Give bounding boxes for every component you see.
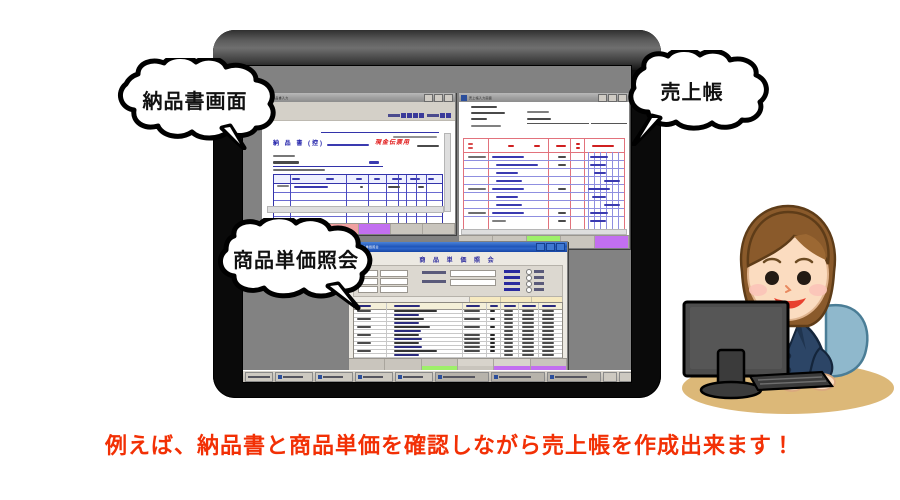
sales-ledger-header xyxy=(465,106,623,136)
table-row[interactable] xyxy=(590,220,606,222)
taskbar-item[interactable] xyxy=(275,372,313,382)
table-row[interactable] xyxy=(522,318,534,320)
bubble-sales-ledger: 売上帳 xyxy=(612,50,772,126)
table-row[interactable] xyxy=(542,326,554,328)
sheet-top-rule xyxy=(321,132,439,133)
col-date xyxy=(468,147,473,149)
table-row[interactable] xyxy=(357,334,371,336)
delivery-note-grid[interactable] xyxy=(273,174,443,224)
table-row[interactable] xyxy=(490,334,495,336)
table-row[interactable] xyxy=(468,188,486,190)
table-row[interactable] xyxy=(490,338,495,340)
table-row[interactable] xyxy=(277,185,289,187)
col-note xyxy=(428,178,434,180)
search-type-label xyxy=(504,270,520,273)
cheek-icon xyxy=(809,284,827,296)
col-amount xyxy=(410,178,420,180)
taskbar-item-icon xyxy=(278,375,282,379)
footer-label-select[interactable] xyxy=(458,359,494,366)
table-row[interactable] xyxy=(394,322,419,324)
footer-cell[interactable] xyxy=(423,224,455,234)
taskbar-item[interactable] xyxy=(491,372,545,382)
table-row[interactable] xyxy=(394,326,430,328)
table-row[interactable] xyxy=(468,212,486,214)
monitor-base-icon xyxy=(701,382,761,398)
table-row[interactable] xyxy=(542,330,554,332)
col-date xyxy=(468,143,473,145)
table-row[interactable] xyxy=(490,346,495,348)
taskbar-item-label xyxy=(283,376,303,378)
table-row[interactable] xyxy=(542,322,554,324)
taskbar-item-label xyxy=(323,376,343,378)
customer-name xyxy=(527,118,551,120)
delivery-note-number xyxy=(417,145,439,147)
col-amount xyxy=(592,145,614,147)
customer-name xyxy=(273,161,299,164)
row-rule xyxy=(464,216,624,217)
table-row[interactable] xyxy=(504,326,513,328)
customer-code xyxy=(273,155,295,157)
table-row[interactable] xyxy=(394,346,422,348)
taskbar-item-label xyxy=(403,376,423,378)
grid-divider xyxy=(386,175,387,224)
table-row[interactable] xyxy=(490,310,495,312)
table-row[interactable] xyxy=(492,188,524,190)
table-row[interactable] xyxy=(394,310,437,312)
table-row[interactable] xyxy=(394,314,419,316)
col-stock xyxy=(504,305,516,307)
taskbar-item-icon xyxy=(358,375,362,379)
minimize-icon[interactable] xyxy=(424,94,433,102)
col-name2 xyxy=(534,145,540,147)
lead-text xyxy=(273,169,325,171)
radio-label xyxy=(534,276,544,279)
table-divider xyxy=(548,139,549,235)
start-button[interactable] xyxy=(245,372,273,382)
col-name xyxy=(292,178,300,180)
table-row[interactable] xyxy=(504,354,513,356)
col-unit xyxy=(576,143,580,145)
table-row[interactable] xyxy=(496,180,522,182)
table-row[interactable] xyxy=(492,156,524,158)
table-divider xyxy=(584,139,585,235)
row-rule xyxy=(464,184,624,185)
taskbar-item-icon xyxy=(318,375,322,379)
row-rule xyxy=(464,200,624,201)
sort-order-label xyxy=(504,288,520,291)
table-row[interactable] xyxy=(468,156,486,158)
table-row[interactable] xyxy=(394,350,437,352)
table-row[interactable] xyxy=(492,220,506,222)
table-row[interactable] xyxy=(504,318,513,320)
amount-column-rule xyxy=(606,152,607,235)
footer-cell[interactable] xyxy=(349,359,385,366)
table-row[interactable] xyxy=(464,350,480,352)
search-label xyxy=(422,280,446,283)
table-row[interactable] xyxy=(464,334,480,336)
table-row[interactable] xyxy=(504,334,513,336)
table-row[interactable] xyxy=(542,350,554,352)
table-row[interactable] xyxy=(490,342,495,344)
delivery-note-toolbar[interactable] xyxy=(262,110,455,121)
table-row[interactable] xyxy=(490,350,495,352)
amount-column-rule xyxy=(612,152,613,235)
table-row[interactable] xyxy=(418,186,424,188)
footer-button-exit[interactable] xyxy=(595,236,629,248)
sales-ledger-table[interactable] xyxy=(463,138,625,236)
col-name xyxy=(394,305,420,307)
window-delivery-note[interactable]: 納品書入力 xyxy=(261,92,456,235)
table-row[interactable] xyxy=(558,220,566,222)
table-row[interactable] xyxy=(504,342,513,344)
col-spec xyxy=(326,178,334,180)
taskbar-item[interactable] xyxy=(355,372,393,382)
table-row[interactable] xyxy=(594,172,606,174)
maximize-icon[interactable] xyxy=(546,243,555,251)
woman-at-computer-svg xyxy=(676,200,900,415)
table-row[interactable] xyxy=(522,334,534,336)
bubble-price-inquiry: 商品単価照会 xyxy=(200,218,392,296)
table-row[interactable] xyxy=(542,334,554,336)
search-type-label xyxy=(504,276,520,279)
table-row[interactable] xyxy=(464,326,480,328)
edit-label-icon xyxy=(388,114,400,117)
promo-caption: 例えば、納品書と商品単価を確認しながら売上帳を作成出来ます！ xyxy=(0,428,900,460)
table-row[interactable] xyxy=(357,326,371,328)
cheek-icon xyxy=(749,284,767,296)
row-rule xyxy=(464,192,624,193)
vertical-scrollbar[interactable] xyxy=(444,133,451,212)
delivery-note-date xyxy=(327,144,369,146)
table-row[interactable] xyxy=(588,188,610,190)
table-row[interactable] xyxy=(522,310,534,312)
taskbar-item-label xyxy=(443,376,475,378)
table-row[interactable] xyxy=(604,204,620,206)
table-row[interactable] xyxy=(504,322,513,324)
print-label-icon xyxy=(427,114,439,117)
grid-divider xyxy=(368,175,369,224)
illustration-woman-at-computer xyxy=(676,200,900,415)
col-qty xyxy=(556,145,566,147)
table-row[interactable] xyxy=(522,330,534,332)
table-row[interactable] xyxy=(542,310,554,312)
preview-icon[interactable] xyxy=(446,113,451,118)
col-qty xyxy=(356,178,362,180)
close-icon[interactable] xyxy=(444,94,453,102)
undo-icon[interactable] xyxy=(419,113,424,118)
table-row[interactable] xyxy=(592,196,606,198)
table-row[interactable] xyxy=(522,338,534,340)
taskbar-item[interactable] xyxy=(315,372,353,382)
window-sales-ledger[interactable]: 売上帳入力画面 xyxy=(458,92,630,249)
row-rule xyxy=(464,208,624,209)
col-unit xyxy=(576,147,580,149)
grid-divider xyxy=(290,175,291,224)
table-row[interactable] xyxy=(464,338,480,340)
minimize-icon[interactable] xyxy=(598,94,607,102)
copy-icon[interactable] xyxy=(407,113,412,118)
sales-ledger-title: 売上帳入力画面 xyxy=(469,96,596,100)
grid-divider xyxy=(406,175,407,224)
bubble-label: 商品単価照会 xyxy=(200,244,392,273)
radio-label xyxy=(534,288,544,291)
row-rule xyxy=(464,168,624,169)
system-tray[interactable] xyxy=(603,372,631,382)
table-row[interactable] xyxy=(504,310,513,312)
taskbar-item-label xyxy=(555,376,587,378)
table-row[interactable] xyxy=(490,326,495,328)
table-row[interactable] xyxy=(558,212,566,214)
taskbar-item-label xyxy=(499,376,531,378)
col-price xyxy=(392,178,402,180)
windows-taskbar[interactable] xyxy=(243,370,631,382)
table-row[interactable] xyxy=(522,350,534,352)
window-controls[interactable] xyxy=(536,243,565,251)
delivery-note-titlebar[interactable]: 納品書入力 xyxy=(262,93,455,102)
footer-cell[interactable] xyxy=(385,359,421,366)
table-row[interactable] xyxy=(357,342,371,344)
maximize-icon[interactable] xyxy=(434,94,443,102)
promo-stage: 納品書入力 xyxy=(0,0,900,500)
table-row[interactable] xyxy=(522,326,534,328)
table-row[interactable] xyxy=(394,342,419,344)
table-row[interactable] xyxy=(604,180,620,182)
taskbar-item-icon xyxy=(438,375,442,379)
table-row[interactable] xyxy=(394,318,424,320)
header-line xyxy=(471,125,501,127)
amount-column-rule xyxy=(588,152,589,235)
eye-icon xyxy=(797,271,811,285)
window-icon xyxy=(461,95,467,101)
table-divider xyxy=(488,139,489,235)
table-row[interactable] xyxy=(522,342,534,344)
taskbar-item-icon xyxy=(494,375,498,379)
table-row[interactable] xyxy=(558,164,566,166)
customer-honorific xyxy=(369,161,379,164)
close-icon[interactable] xyxy=(556,243,565,251)
table-row[interactable] xyxy=(394,330,421,332)
bubble-delivery-note-screen: 納品書画面 xyxy=(104,58,286,136)
taskbar-item[interactable] xyxy=(547,372,601,382)
tray-kana-icon[interactable] xyxy=(619,372,631,382)
cut-icon[interactable] xyxy=(401,113,406,118)
grid-divider xyxy=(426,175,427,224)
col-unit xyxy=(490,305,498,307)
col-std-price xyxy=(522,305,536,307)
footer-cell[interactable] xyxy=(531,359,567,366)
table-row[interactable] xyxy=(464,346,480,348)
table-row[interactable] xyxy=(558,156,566,158)
table-row[interactable] xyxy=(542,314,554,316)
toolbar-group-print[interactable] xyxy=(427,113,451,118)
horizontal-scrollbar[interactable] xyxy=(267,206,444,213)
table-row[interactable] xyxy=(394,338,422,340)
window-controls[interactable] xyxy=(424,94,453,102)
table-row[interactable] xyxy=(504,350,513,352)
table-row[interactable] xyxy=(590,164,606,166)
delivery-note-body: 納 品 書 (控) 現金伝票用 xyxy=(262,110,455,234)
table-row[interactable] xyxy=(522,314,534,316)
footer-upper-row[interactable] xyxy=(349,359,567,366)
product-class-code-input[interactable] xyxy=(450,270,496,277)
grid-divider xyxy=(346,175,347,224)
header-line xyxy=(471,118,487,120)
table-row[interactable] xyxy=(522,322,534,324)
sort-order-label xyxy=(504,282,520,285)
start-label-icon xyxy=(248,376,270,378)
minimize-icon[interactable] xyxy=(536,243,545,251)
delivery-note-sheet: 納 品 書 (控) 現金伝票用 xyxy=(265,122,452,224)
footer-cell[interactable] xyxy=(422,359,458,366)
table-row[interactable] xyxy=(542,342,554,344)
taskbar-item[interactable] xyxy=(435,372,489,382)
table-row[interactable] xyxy=(558,188,566,190)
bubble-label: 納品書画面 xyxy=(104,85,286,114)
search-label xyxy=(422,271,446,274)
print-icon[interactable] xyxy=(440,113,445,118)
eye-icon xyxy=(765,271,779,285)
table-row[interactable] xyxy=(464,310,480,312)
table-row[interactable] xyxy=(490,318,495,320)
customer-underline xyxy=(527,123,589,124)
table-row[interactable] xyxy=(542,318,554,320)
table-row[interactable] xyxy=(394,354,419,356)
sales-ledger-body xyxy=(459,102,629,248)
sales-ledger-titlebar[interactable]: 売上帳入力画面 xyxy=(459,93,629,102)
table-row[interactable] xyxy=(590,212,608,214)
tray-ime-icon[interactable] xyxy=(603,372,617,382)
table-row[interactable] xyxy=(522,354,534,356)
table-row[interactable] xyxy=(464,342,480,344)
radio-special[interactable] xyxy=(526,287,532,293)
table-row[interactable] xyxy=(504,346,513,348)
table-row[interactable] xyxy=(496,164,538,166)
col-name xyxy=(508,145,514,147)
table-row[interactable] xyxy=(542,354,554,356)
paste-icon[interactable] xyxy=(413,113,418,118)
taskbar-item[interactable] xyxy=(395,372,433,382)
table-row[interactable] xyxy=(542,338,554,340)
row-rule xyxy=(464,176,624,177)
amount-column-rule xyxy=(618,152,619,235)
delivery-note-title: 納品書入力 xyxy=(272,96,422,100)
table-row[interactable] xyxy=(388,186,400,188)
table-row[interactable] xyxy=(357,350,371,352)
table-row[interactable] xyxy=(542,346,554,348)
customer-code xyxy=(527,111,549,113)
table-row[interactable] xyxy=(492,212,524,214)
col-spec xyxy=(466,305,480,307)
table-row[interactable] xyxy=(504,314,513,316)
header-line xyxy=(471,112,505,114)
table-row[interactable] xyxy=(496,204,522,206)
bubble-label: 売上帳 xyxy=(612,76,772,105)
table-row[interactable] xyxy=(357,318,371,320)
taskbar-item-label xyxy=(363,376,383,378)
delivery-note-stamp: 現金伝票用 xyxy=(375,137,410,146)
table-row[interactable] xyxy=(360,186,363,188)
table-row[interactable] xyxy=(294,186,328,188)
taskbar-item-icon xyxy=(550,375,554,379)
footer-cell[interactable] xyxy=(391,224,423,234)
customer-underline xyxy=(273,166,383,167)
header-line xyxy=(471,106,497,108)
row-rule xyxy=(464,160,624,161)
toolbar-group-edit[interactable] xyxy=(388,113,424,118)
col-unit xyxy=(374,178,380,180)
product-category-code-input[interactable] xyxy=(450,279,496,286)
table-row[interactable] xyxy=(522,346,534,348)
radio-label xyxy=(534,270,544,273)
table-row[interactable] xyxy=(590,156,608,158)
radio-label xyxy=(534,282,544,285)
table-row[interactable] xyxy=(496,196,518,198)
grid-divider xyxy=(416,175,417,224)
footer-label-back[interactable] xyxy=(494,359,530,366)
table-row[interactable] xyxy=(504,338,513,340)
table-row[interactable] xyxy=(464,318,480,320)
grid-divider xyxy=(398,175,399,224)
table-row[interactable] xyxy=(504,330,513,332)
table-divider xyxy=(570,139,571,235)
taskbar-item-icon xyxy=(398,375,402,379)
taskbar-items[interactable] xyxy=(275,372,601,382)
col-cost-price xyxy=(542,305,556,307)
table-row[interactable] xyxy=(394,334,419,336)
table-row[interactable] xyxy=(496,172,518,174)
